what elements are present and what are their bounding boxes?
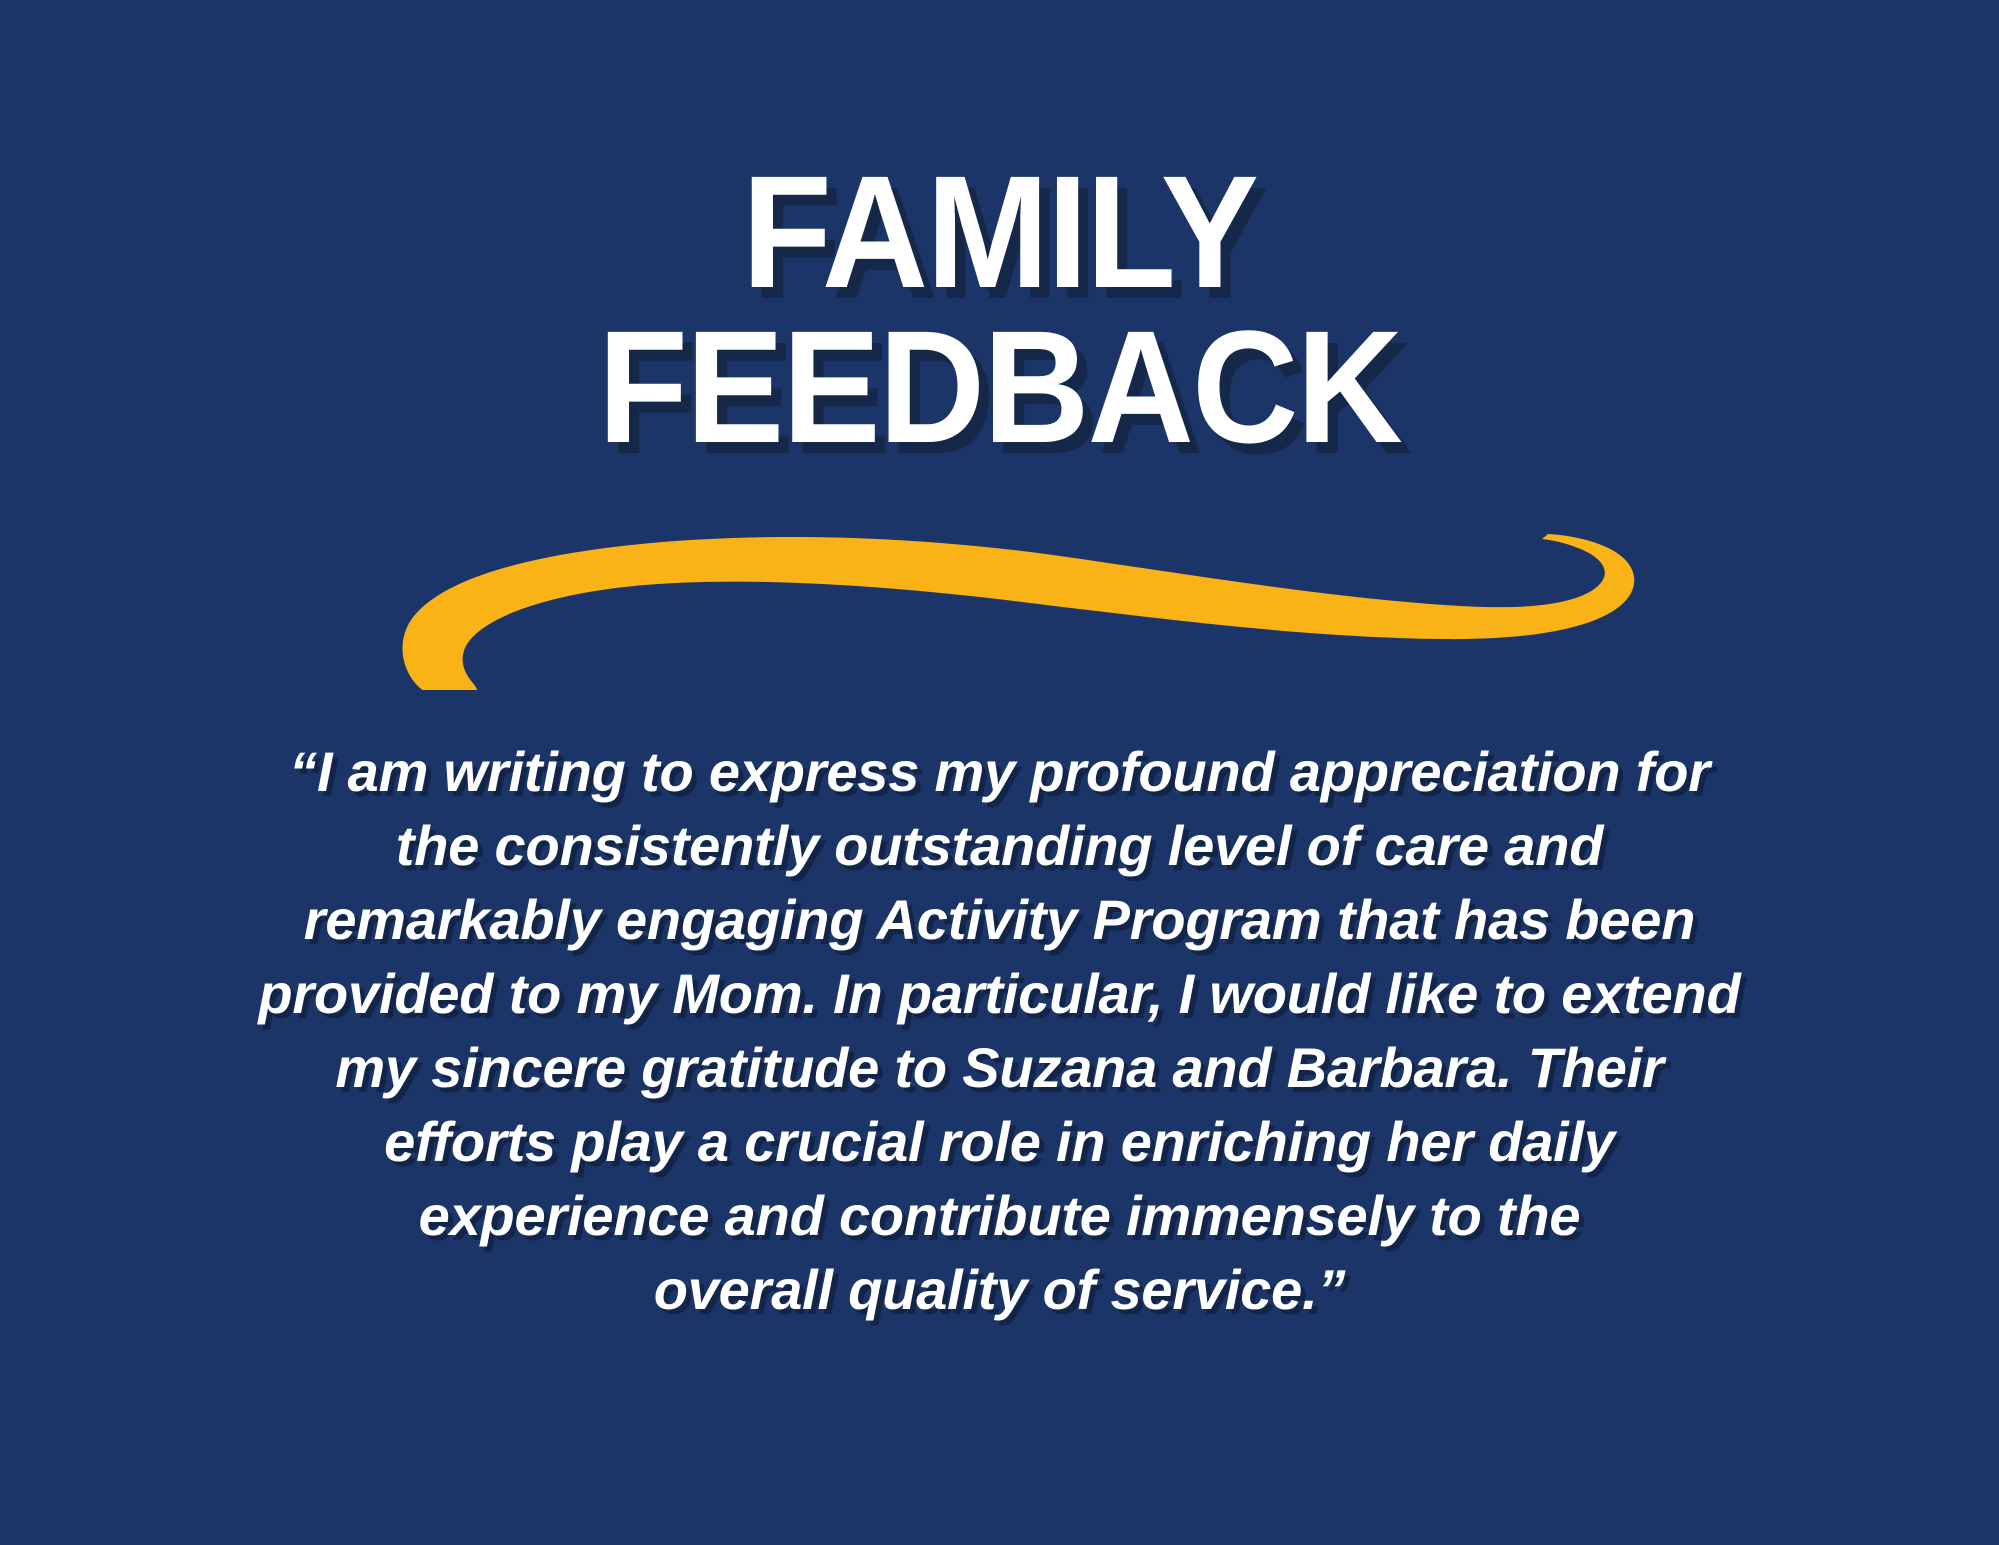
- swoosh-underline-decoration: [370, 520, 1650, 690]
- quote-line: experience and contribute immensely to t…: [120, 1179, 1879, 1253]
- title-line-family: FAMILY: [80, 158, 1919, 305]
- quote-line: my sincere gratitude to Suzana and Barba…: [120, 1031, 1879, 1105]
- title-line-feedback: FEEDBACK: [80, 313, 1919, 460]
- swoosh-icon: [370, 520, 1650, 690]
- quote-line: remarkably engaging Activity Program tha…: [120, 883, 1879, 957]
- slide-canvas: FAMILY FEEDBACK “I am writing to express…: [0, 0, 1999, 1545]
- quote-line: efforts play a crucial role in enriching…: [120, 1105, 1879, 1179]
- quote-line: provided to my Mom. In particular, I wou…: [120, 957, 1879, 1031]
- quote-line: “I am writing to express my profound app…: [120, 735, 1879, 809]
- page-title: FAMILY FEEDBACK: [0, 158, 1999, 460]
- family-feedback-quote: “I am writing to express my profound app…: [0, 735, 1999, 1327]
- quote-line: the consistently outstanding level of ca…: [120, 809, 1879, 883]
- quote-line: overall quality of service.”: [120, 1253, 1879, 1327]
